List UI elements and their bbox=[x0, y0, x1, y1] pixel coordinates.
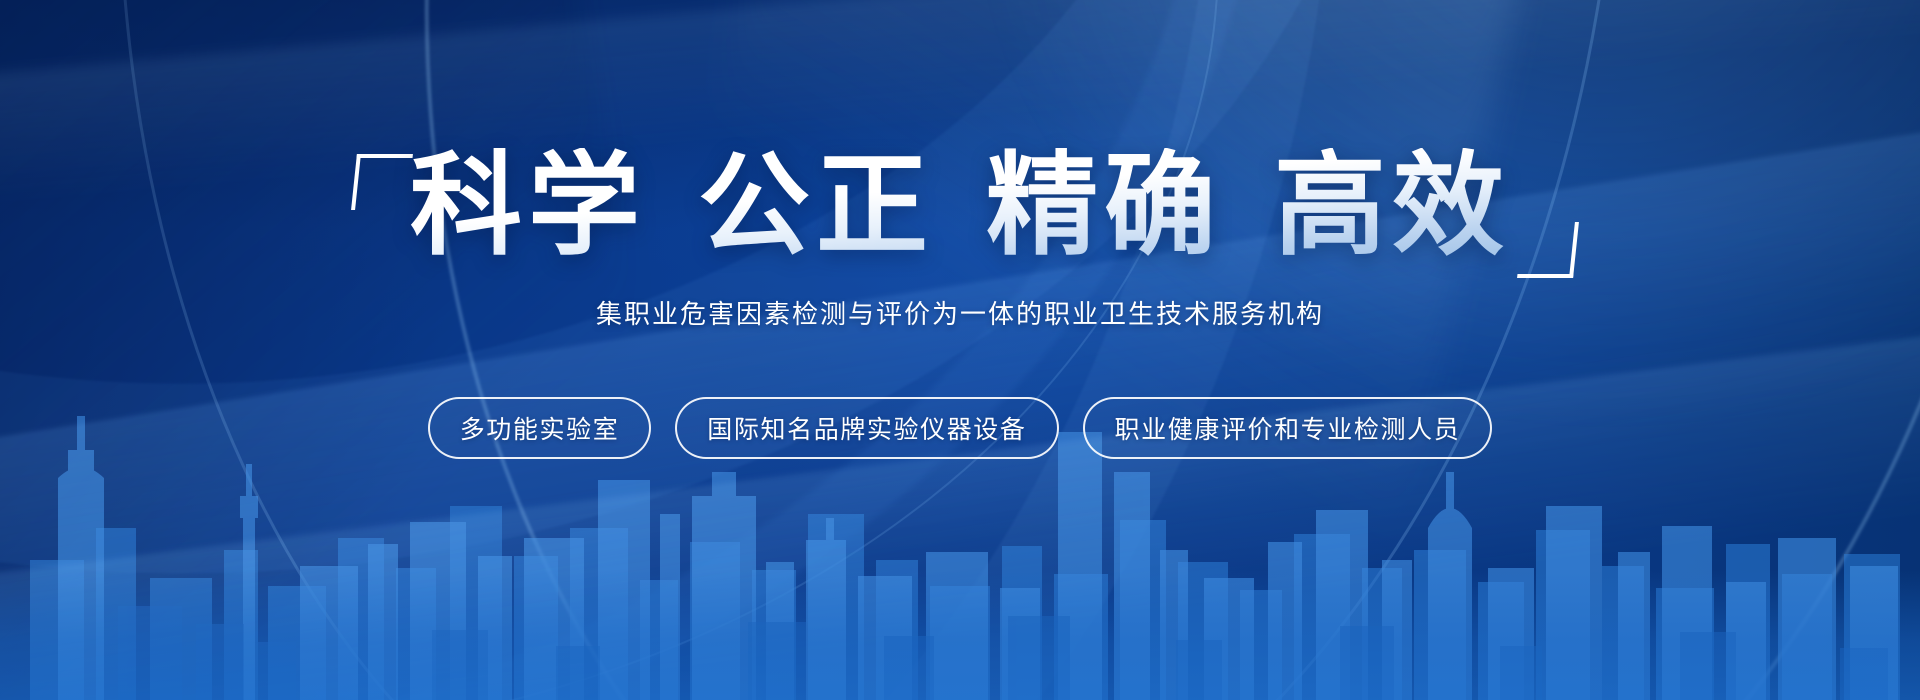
feature-tag-equipment[interactable]: 国际知名品牌实验仪器设备 bbox=[675, 397, 1058, 459]
page-title: 科学 公正 精确 高效 bbox=[410, 148, 1510, 264]
headline-word-3: 精确 bbox=[986, 148, 1222, 264]
feature-tag-personnel[interactable]: 职业健康评价和专业检测人员 bbox=[1083, 397, 1493, 459]
headline-word-2: 公正 bbox=[698, 148, 934, 264]
headline-word-4: 高效 bbox=[1274, 148, 1510, 264]
promo-banner: 科学 公正 精确 高效 集职业危害因素检测与评价为一体的职业卫生技术服务机构 多… bbox=[0, 0, 1920, 700]
feature-tag-list: 多功能实验室 国际知名品牌实验仪器设备 职业健康评价和专业检测人员 bbox=[428, 397, 1493, 459]
banner-content: 科学 公正 精确 高效 集职业危害因素检测与评价为一体的职业卫生技术服务机构 多… bbox=[0, 0, 1920, 700]
banner-subtitle: 集职业危害因素检测与评价为一体的职业卫生技术服务机构 bbox=[596, 294, 1324, 331]
headline-word-1: 科学 bbox=[410, 148, 646, 264]
headline-block: 科学 公正 精确 高效 bbox=[348, 148, 1572, 264]
bracket-close-icon bbox=[1517, 222, 1579, 278]
feature-tag-lab[interactable]: 多功能实验室 bbox=[428, 397, 652, 459]
bracket-open-icon bbox=[351, 154, 413, 210]
